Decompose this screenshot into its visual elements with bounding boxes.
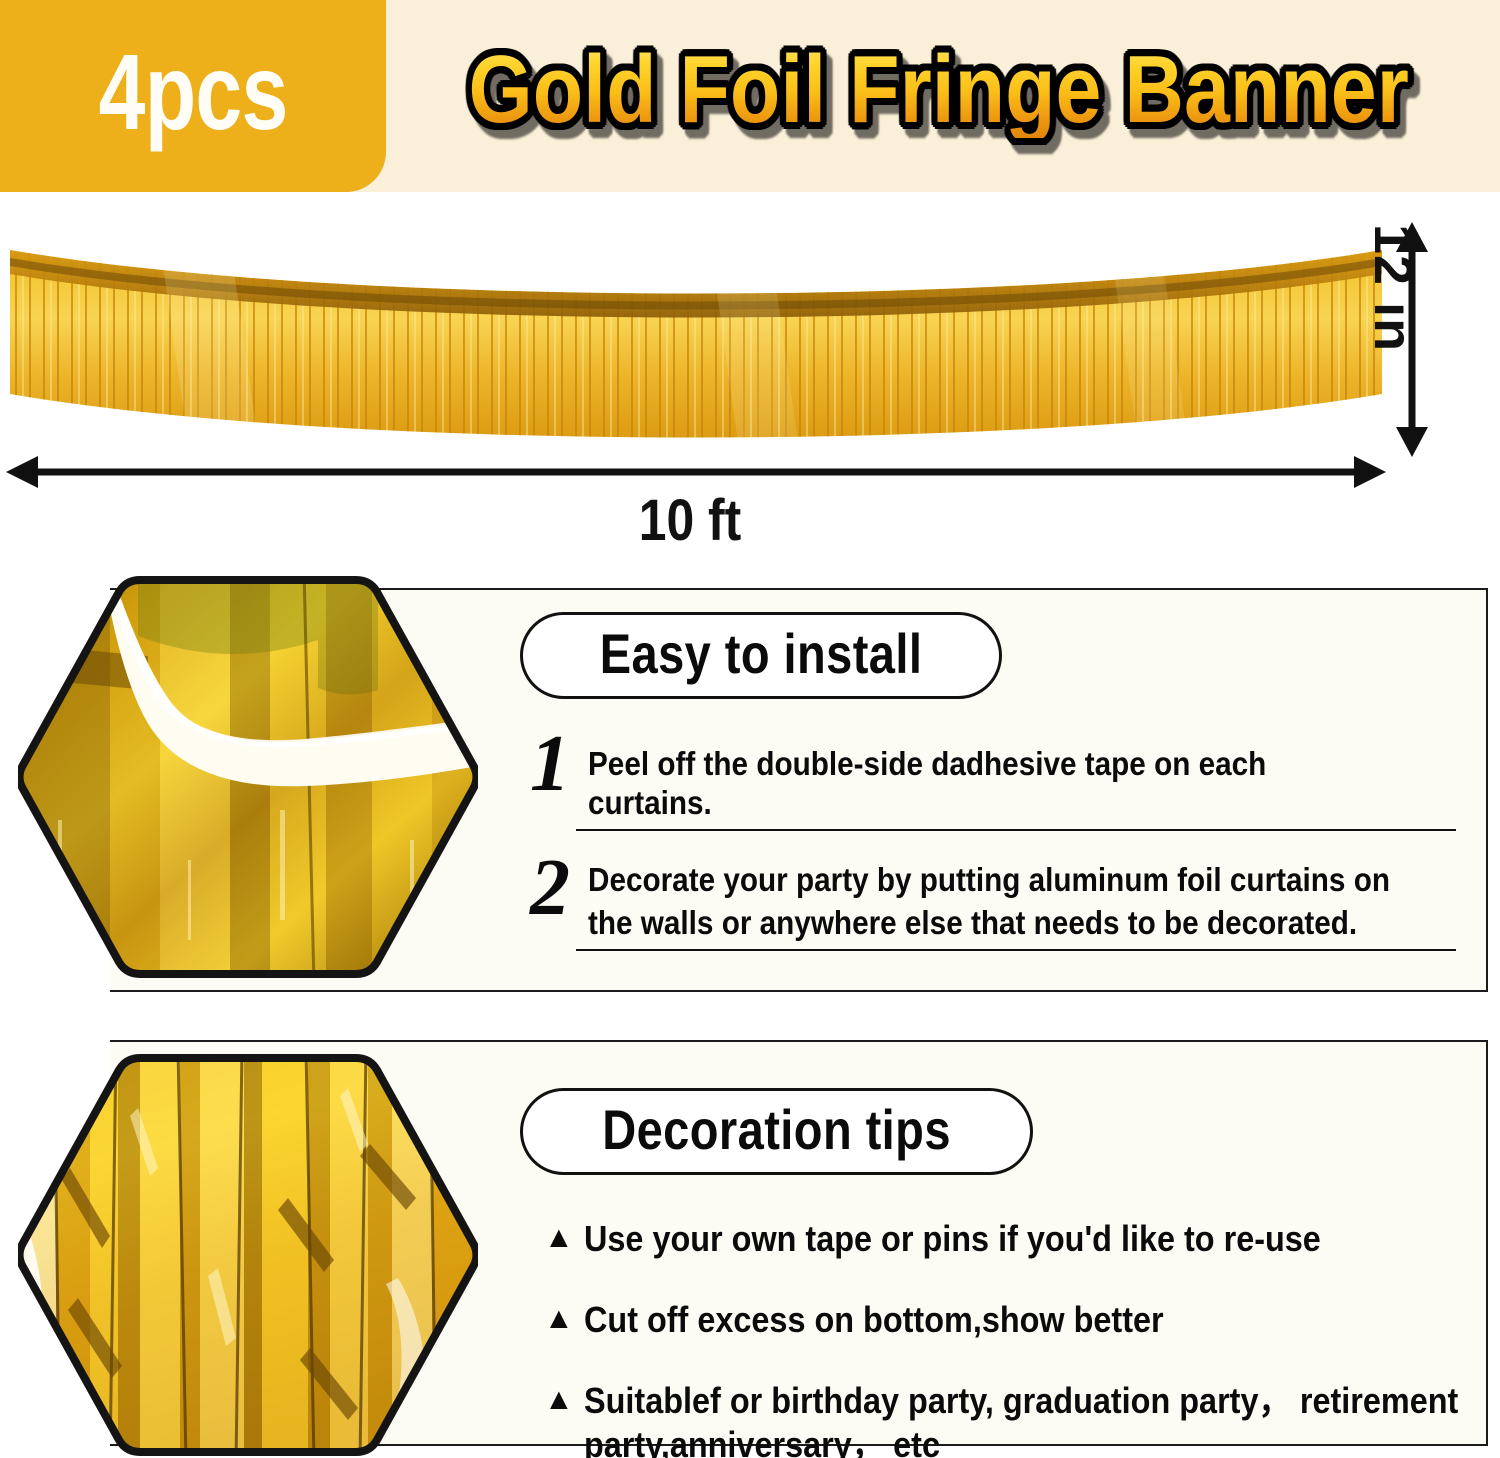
easy-to-install-heading: Easy to install [600,624,923,683]
width-dimension-label: 10 ft [97,487,1284,554]
install-steps-list: 1 Peel off the double-side dadhesive tap… [520,733,1470,951]
width-dimension-arrow [6,454,1386,490]
install-step-2-number: 2 [530,853,588,923]
step-spacer [520,831,1470,857]
product-showcase: 12 in 10 ft [0,192,1500,572]
height-dimension-label: 12 in [1368,224,1424,454]
gold-foil-fringe-banner-photo [10,244,1382,456]
adhesive-tape-closeup-photo [18,570,478,984]
decoration-tip-3-text-line-1: Suitablef or birthday party, graduation … [584,1379,1469,1424]
install-step-2-divider [576,949,1456,951]
decoration-tip-3: ▲ Suitablef or birthday party, graduatio… [544,1379,1470,1458]
quantity-badge-label: 4pcs [99,38,288,146]
install-step-1-text: Peel off the double-side dadhesive tape … [588,733,1382,823]
easy-to-install-heading-pill: Easy to install [520,612,1002,699]
install-step-2: 2 Decorate your party by putting aluminu… [520,857,1470,943]
triangle-bullet-icon: ▲ [544,1304,584,1334]
triangle-bullet-icon: ▲ [544,1223,584,1253]
quantity-badge: 4pcs [0,0,386,192]
decoration-tip-1-text: Use your own tape or pins if you'd like … [584,1217,1381,1262]
decoration-tip-2-text: Cut off excess on bottom,show better [584,1298,1381,1343]
decoration-tip-1: ▲ Use your own tape or pins if you'd lik… [544,1217,1470,1262]
decoration-tip-2: ▲ Cut off excess on bottom,show better [544,1298,1470,1343]
header-title-container: Gold Foil Fringe Banner [386,0,1500,192]
install-step-1-number: 1 [530,729,588,799]
gold-fringe-strands-closeup-photo [18,1048,478,1458]
page-title: Gold Foil Fringe Banner [469,42,1409,138]
triangle-bullet-icon: ▲ [544,1385,584,1415]
easy-to-install-content: Easy to install 1 Peel off the double-si… [520,612,1470,951]
decoration-tip-3-text-line-2: party,anniversary， etc [584,1423,1469,1458]
decoration-tips-heading: Decoration tips [602,1100,951,1159]
decoration-tips-list: ▲ Use your own tape or pins if you'd lik… [520,1217,1470,1458]
decoration-tips-heading-pill: Decoration tips [520,1088,1033,1175]
install-step-1: 1 Peel off the double-side dadhesive tap… [520,733,1470,823]
install-step-2-text-line-1: Decorate your party by putting aluminum … [588,857,1469,900]
decoration-tips-content: Decoration tips ▲ Use your own tape or p… [520,1088,1470,1458]
install-step-2-text-line-2: the walls or anywhere else that needs to… [588,900,1469,943]
header-banner: 4pcs Gold Foil Fringe Banner [0,0,1500,192]
product-infographic: 4pcs Gold Foil Fringe Banner [0,0,1500,1458]
